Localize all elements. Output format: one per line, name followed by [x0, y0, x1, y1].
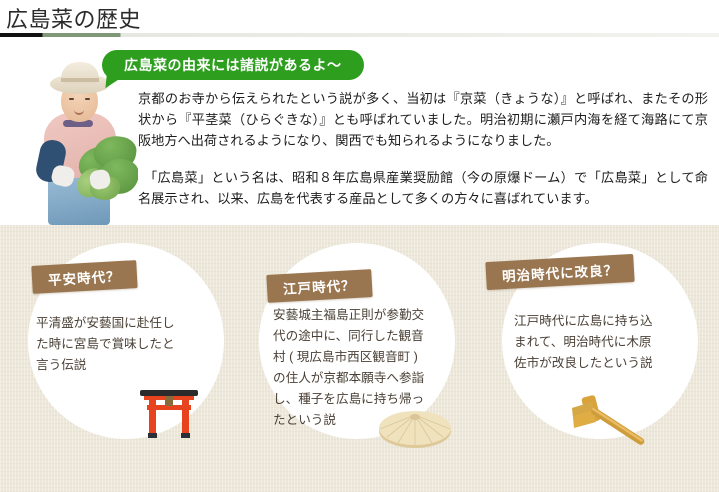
- farmer-left-eye: [69, 98, 74, 100]
- card-badge-heian: 平安時代？: [31, 260, 137, 294]
- intro-section: 広島菜の由来には諸説があるよ～ 京都のお寺から伝えられたという説が多く、当初は『…: [0, 40, 719, 225]
- farmer-right-eye: [85, 98, 90, 100]
- intro-paragraph-1: 京都のお寺から伝えられたという説が多く、当初は『京菜（きょうな）』と呼ばれ、また…: [138, 88, 708, 151]
- farmer-hat-band: [61, 78, 99, 82]
- page-title: 広島菜の歴史: [6, 2, 141, 34]
- straw-hat-icon: [378, 404, 452, 455]
- page-header: 広島菜の歴史: [0, 0, 719, 40]
- intro-paragraph-2: 「広島菜」という名は、昭和８年広島県産業奨励館（今の原爆ドーム）で「広島菜」とし…: [138, 167, 708, 209]
- speech-bubble-text: 広島菜の由来には諸説があるよ～: [124, 55, 342, 75]
- card-body-meiji: 江戸時代に広島に持ち込まれて、明治時代に木原佐市が改良したという説: [514, 311, 654, 374]
- intro-text-block: 京都のお寺から伝えられたという説が多く、当初は『京菜（きょうな）』と呼ばれ、また…: [138, 88, 708, 209]
- card-badge-label: 江戸時代？: [282, 274, 356, 298]
- card-badge-edo: 江戸時代？: [266, 269, 372, 303]
- history-card-heian: 平安時代？ 平清盛が安藝国に赴任した時に宮島で賞味したと言う伝説: [0, 225, 240, 492]
- speech-bubble: 広島菜の由来には諸説があるよ～: [102, 50, 364, 80]
- history-card-edo: 江戸時代？ 安藝城主福島正則が参勤交代の途中に、同行した観音村 ( 現広島市西区…: [233, 225, 473, 492]
- card-body-heian: 平清盛が安藝国に赴任した時に宮島で賞味したと言う伝説: [36, 313, 186, 376]
- torii-gate-icon: [138, 386, 200, 443]
- card-badge-label: 平安時代？: [47, 265, 121, 289]
- card-badge-label: 明治時代に改良？: [502, 259, 619, 285]
- hoe-icon: [562, 392, 660, 465]
- history-panel: 平安時代？ 平清盛が安藝国に赴任した時に宮島で賞味したと言う伝説 江戸時代？ 安…: [0, 225, 719, 492]
- title-underline-rule: [0, 33, 719, 37]
- hiroshimana-vegetable: [76, 136, 138, 202]
- history-card-meiji: 明治時代に改良？ 江戸時代に広島に持ち込まれて、明治時代に木原佐市が改良したとい…: [466, 225, 706, 492]
